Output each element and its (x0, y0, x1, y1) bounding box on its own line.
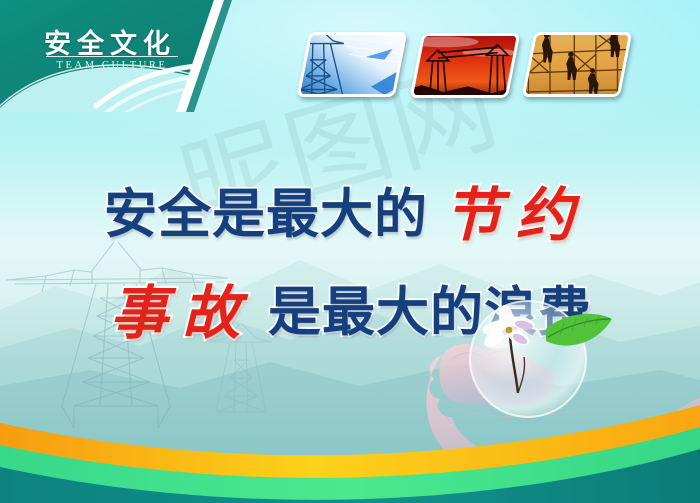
headline-line-1: 安全是最大的节约 (0, 168, 700, 252)
headline-line2-red: 事故 (110, 279, 254, 347)
banner-subtitle: TEAM CULTURE (46, 56, 178, 71)
bottom-decorative-bands (0, 383, 700, 503)
headline-line1-blue: 安全是最大的 (104, 184, 428, 245)
thumbnail-workers-scaffolding[interactable] (522, 32, 633, 97)
headline-line1-red: 节约 (444, 181, 588, 249)
thumbnail-strip (300, 27, 630, 105)
safety-culture-poster: 昵图网 (0, 0, 700, 503)
thumbnail-transmission-tower-blue[interactable] (297, 32, 408, 97)
thumbnail-pylons-red-sunset[interactable] (410, 33, 521, 98)
